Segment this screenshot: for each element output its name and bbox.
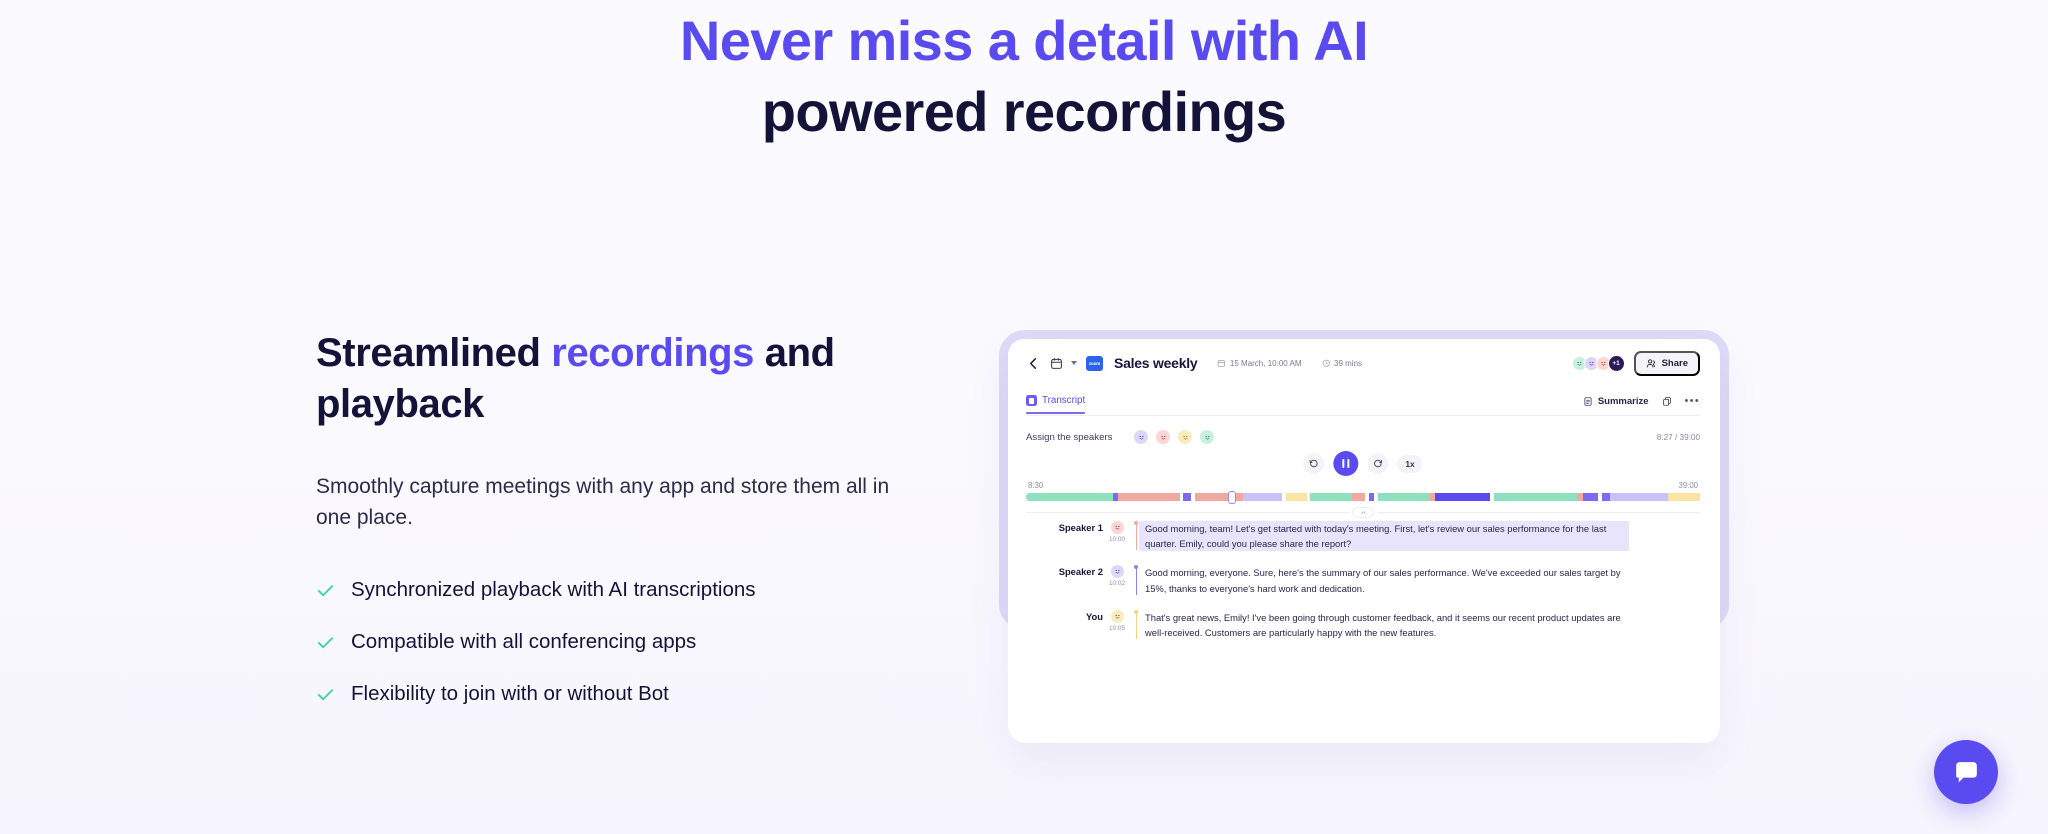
timeline-segment-20 xyxy=(1494,493,1578,501)
transcript-entry[interactable]: Speaker 210:02Good morning, everyone. Su… xyxy=(1026,565,1700,595)
avatar[interactable] xyxy=(1111,565,1124,578)
assign-speaker-avatars xyxy=(1134,430,1214,444)
chat-bubble-icon xyxy=(1951,757,1982,788)
calendar-icon xyxy=(1050,357,1063,370)
entry-accent-bar-wrap xyxy=(1134,610,1139,640)
feature-title-part1: Streamlined xyxy=(316,331,551,375)
entry-accent-bar-wrap xyxy=(1134,521,1139,551)
avatar[interactable] xyxy=(1111,521,1124,534)
calendar-source-button[interactable] xyxy=(1050,357,1063,370)
collapse-divider xyxy=(1026,507,1700,518)
speaker-timestamp: 10:02 xyxy=(1109,580,1125,587)
copy-icon xyxy=(1662,396,1672,407)
rotate-right-icon xyxy=(1372,458,1383,469)
pause-icon xyxy=(1342,459,1344,468)
share-label: Share xyxy=(1662,358,1688,369)
speaker-name: Speaker 2 xyxy=(1059,565,1103,577)
divider-line-left xyxy=(1026,512,1349,513)
entry-accent-bar-wrap xyxy=(1134,565,1139,595)
tab-transcript[interactable]: Transcript xyxy=(1026,395,1085,413)
face-icon xyxy=(1113,612,1122,621)
feature-bullet-list: Synchronized playback with AI transcript… xyxy=(316,578,956,706)
timeline-segment-9 xyxy=(1286,493,1307,501)
people-icon xyxy=(1646,358,1657,369)
list-item: Flexibility to join with or without Bot xyxy=(316,682,956,706)
pause-icon-2 xyxy=(1347,459,1349,468)
avatar[interactable] xyxy=(1111,610,1124,623)
arrow-left-icon xyxy=(1026,356,1041,371)
assign-speakers-label: Assign the speakers xyxy=(1026,432,1112,443)
speaker-timestamp: 10:05 xyxy=(1109,625,1125,632)
feature-title: Streamlined recordings and playback xyxy=(316,328,956,430)
meeting-date-meta: 15 March, 10:00 AM xyxy=(1217,359,1301,368)
timeline-segment-24 xyxy=(1602,493,1610,501)
transcript-text: Good morning, team! Let's get started wi… xyxy=(1139,521,1629,551)
face-icon xyxy=(1587,359,1596,368)
timeline-end-label: 39:00 xyxy=(1678,481,1698,490)
entry-meta: Speaker 110:00 xyxy=(1026,521,1134,551)
entry-accent-bar xyxy=(1136,524,1137,550)
rotate-left-icon xyxy=(1308,458,1319,469)
face-icon xyxy=(1599,359,1608,368)
speaker-avatar-block[interactable]: 10:05 xyxy=(1109,610,1125,632)
timeline-segment-16 xyxy=(1378,493,1430,501)
audio-player: 1x 8:30 39:00 xyxy=(1026,451,1700,499)
timeline-times: 8:30 39:00 xyxy=(1026,481,1700,493)
bullet-label: Compatible with all conferencing apps xyxy=(351,630,696,654)
chevron-down-icon[interactable] xyxy=(1071,361,1077,365)
playback-position-label: 8:27 / 39:00 xyxy=(1657,433,1700,442)
list-item: Compatible with all conferencing apps xyxy=(316,630,956,654)
timeline-segment-0 xyxy=(1026,493,1113,501)
summarize-label: Summarize xyxy=(1598,396,1649,407)
speaker-avatar-1[interactable] xyxy=(1134,430,1148,444)
bullet-label: Flexibility to join with or without Bot xyxy=(351,682,669,706)
timeline-segment-4 xyxy=(1183,493,1191,501)
landing-page-section: Never miss a detail with AI powered reco… xyxy=(0,0,2048,834)
tab-active-underline xyxy=(1026,412,1085,414)
face-icon xyxy=(1113,567,1122,576)
timeline-segment-7 xyxy=(1243,493,1282,501)
timeline-segment-22 xyxy=(1583,493,1598,501)
timeline-wrapper: 8:30 39:00 xyxy=(1026,481,1700,501)
face-icon xyxy=(1575,359,1584,368)
mockup-header: zoom Sales weekly 15 March, 10:00 AM 39 … xyxy=(1008,339,1720,387)
timeline-segment-2 xyxy=(1118,493,1179,501)
zoom-app-icon: zoom xyxy=(1086,356,1103,371)
timeline-segment-11 xyxy=(1310,493,1352,501)
mockup-tabs-row: Transcript Summarize ••• xyxy=(1026,387,1700,416)
rewind-button[interactable] xyxy=(1303,453,1324,474)
avatar-overflow-badge[interactable]: +1 xyxy=(1608,355,1625,372)
transcript-list: Speaker 110:00Good morning, team! Let's … xyxy=(1026,521,1700,654)
transcript-icon xyxy=(1026,395,1037,406)
timeline-segment-18 xyxy=(1435,493,1490,501)
timeline-segment-6 xyxy=(1195,493,1243,501)
playback-speed-button[interactable]: 1x xyxy=(1397,455,1422,473)
transcript-text: Good morning, everyone. Sure, here's the… xyxy=(1139,565,1629,595)
timeline-playhead[interactable] xyxy=(1228,491,1236,504)
speaker-avatar-3[interactable] xyxy=(1178,430,1192,444)
speaker-avatar-4[interactable] xyxy=(1200,430,1214,444)
speaker-timestamp: 10:00 xyxy=(1109,536,1125,543)
forward-button[interactable] xyxy=(1367,453,1388,474)
back-button[interactable] xyxy=(1026,356,1041,371)
timeline-segment-25 xyxy=(1610,493,1668,501)
check-icon xyxy=(316,581,335,600)
share-button[interactable]: Share xyxy=(1634,351,1700,376)
app-mockup-panel: zoom Sales weekly 15 March, 10:00 AM 39 … xyxy=(1008,339,1720,743)
collapse-toggle-button[interactable] xyxy=(1352,507,1374,518)
timeline-scrubber[interactable] xyxy=(1026,493,1700,501)
speaker-avatar-block[interactable]: 10:00 xyxy=(1109,521,1125,543)
play-pause-button[interactable] xyxy=(1333,451,1358,476)
transcript-entry[interactable]: You10:05That's great news, Emily! I've b… xyxy=(1026,610,1700,640)
assign-speakers-row: Assign the speakers 8:27 / 39:00 xyxy=(1026,425,1700,449)
meeting-duration-label: 39 mins xyxy=(1334,359,1362,368)
feature-text-column: Streamlined recordings and playback Smoo… xyxy=(316,328,956,734)
face-icon xyxy=(1113,523,1122,532)
check-icon xyxy=(316,685,335,704)
document-icon xyxy=(1583,396,1593,407)
copy-button[interactable] xyxy=(1662,396,1672,407)
face-icon xyxy=(1203,433,1212,442)
more-options-button[interactable]: ••• xyxy=(1685,398,1700,404)
headline-line-2: powered recordings xyxy=(0,77,2048,148)
calendar-small-icon xyxy=(1217,359,1226,368)
entry-meta: You10:05 xyxy=(1026,610,1134,640)
speaker-name: Speaker 1 xyxy=(1059,521,1103,533)
playback-controls: 1x xyxy=(1303,451,1422,476)
face-icon xyxy=(1159,433,1168,442)
meeting-duration-meta: 39 mins xyxy=(1322,359,1363,368)
summarize-button[interactable]: Summarize xyxy=(1583,396,1649,407)
entry-accent-bar xyxy=(1136,568,1137,594)
bullet-label: Synchronized playback with AI transcript… xyxy=(351,578,756,602)
headline-line-1: Never miss a detail with AI xyxy=(0,6,2048,77)
timeline-start-label: 8:30 xyxy=(1028,481,1043,490)
divider-line-right xyxy=(1377,512,1700,513)
tab-transcript-label: Transcript xyxy=(1042,395,1085,406)
speaker-avatar-block[interactable]: 10:02 xyxy=(1109,565,1125,587)
participant-avatars[interactable]: +1 xyxy=(1572,355,1625,372)
meeting-title: Sales weekly xyxy=(1114,355,1197,371)
entry-meta: Speaker 210:02 xyxy=(1026,565,1134,595)
transcript-text: That's great news, Emily! I've been goin… xyxy=(1139,610,1629,640)
feature-body-text: Smoothly capture meetings with any app a… xyxy=(316,472,916,534)
meeting-date-label: 15 March, 10:00 AM xyxy=(1230,359,1302,368)
chat-widget-button[interactable] xyxy=(1934,740,1998,804)
speaker-name: You xyxy=(1086,610,1103,622)
check-icon xyxy=(316,633,335,652)
face-icon xyxy=(1181,433,1190,442)
list-item: Synchronized playback with AI transcript… xyxy=(316,578,956,602)
timeline-segment-12 xyxy=(1352,493,1365,501)
speaker-avatar-2[interactable] xyxy=(1156,430,1170,444)
feature-title-accent: recordings xyxy=(551,331,754,375)
page-headline: Never miss a detail with AI powered reco… xyxy=(0,6,2048,147)
entry-accent-bar xyxy=(1136,613,1137,639)
face-icon xyxy=(1137,433,1146,442)
chevron-up-icon xyxy=(1360,509,1367,516)
clock-icon xyxy=(1322,359,1331,368)
transcript-entry[interactable]: Speaker 110:00Good morning, team! Let's … xyxy=(1026,521,1700,551)
timeline-segment-26 xyxy=(1668,493,1700,501)
